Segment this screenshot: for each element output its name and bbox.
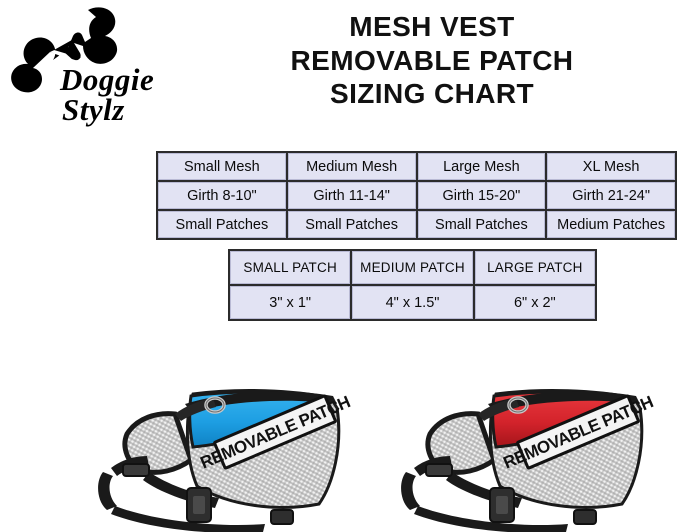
table-row: Girth 8-10" Girth 11-14" Girth 15-20" Gi…: [158, 182, 675, 209]
red-vest-illustration: REMOVABLE PATCH: [378, 360, 678, 532]
vest-strap-loop-left: [98, 472, 117, 510]
patch-size-table: SMALL PATCH MEDIUM PATCH LARGE PATCH 3" …: [228, 249, 597, 321]
mesh-size-name: XL Mesh: [547, 153, 675, 180]
mesh-girth: Girth 21-24": [547, 182, 675, 209]
patch-dimensions: 4" x 1.5": [352, 286, 472, 319]
patch-size-header: LARGE PATCH: [475, 251, 595, 284]
mesh-size-name: Medium Mesh: [288, 153, 416, 180]
mesh-patch-fit: Small Patches: [158, 211, 286, 238]
product-image-blue-vest: REMOVABLE PATCH: [75, 360, 375, 532]
title-line-1: MESH VEST: [212, 10, 652, 44]
patch-size-header: SMALL PATCH: [230, 251, 350, 284]
title-line-2: REMOVABLE PATCH: [212, 44, 652, 78]
vest-strap-loop-left: [401, 472, 420, 510]
sizing-chart-page: Doggie Stylz MESH VEST REMOVABLE PATCH S…: [0, 0, 679, 532]
brand-logo: Doggie Stylz: [4, 4, 194, 132]
side-clip-icon: [574, 510, 596, 524]
mesh-size-table: Small Mesh Medium Mesh Large Mesh XL Mes…: [156, 151, 677, 240]
mesh-size-name: Large Mesh: [418, 153, 546, 180]
table-row: Small Patches Small Patches Small Patche…: [158, 211, 675, 238]
strap-slider-icon: [426, 464, 452, 476]
strap-slider-icon: [123, 464, 149, 476]
mesh-girth: Girth 11-14": [288, 182, 416, 209]
side-clip-icon: [271, 510, 293, 524]
patch-dimensions: 6" x 2": [475, 286, 595, 319]
table-row: Small Mesh Medium Mesh Large Mesh XL Mes…: [158, 153, 675, 180]
table-row: 3" x 1" 4" x 1.5" 6" x 2": [230, 286, 595, 319]
buckle-inner: [496, 496, 508, 514]
mesh-patch-fit: Medium Patches: [547, 211, 675, 238]
table-row: SMALL PATCH MEDIUM PATCH LARGE PATCH: [230, 251, 595, 284]
mesh-patch-fit: Small Patches: [288, 211, 416, 238]
title-line-3: SIZING CHART: [212, 77, 652, 111]
blue-vest-illustration: REMOVABLE PATCH: [75, 360, 375, 532]
brand-name-line2: Stylz: [62, 92, 125, 128]
mesh-girth: Girth 8-10": [158, 182, 286, 209]
mesh-size-name: Small Mesh: [158, 153, 286, 180]
patch-dimensions: 3" x 1": [230, 286, 350, 319]
page-title: MESH VEST REMOVABLE PATCH SIZING CHART: [212, 10, 652, 111]
product-image-red-vest: REMOVABLE PATCH: [378, 360, 678, 532]
buckle-inner: [193, 496, 205, 514]
patch-size-header: MEDIUM PATCH: [352, 251, 472, 284]
mesh-girth: Girth 15-20": [418, 182, 546, 209]
mesh-patch-fit: Small Patches: [418, 211, 546, 238]
